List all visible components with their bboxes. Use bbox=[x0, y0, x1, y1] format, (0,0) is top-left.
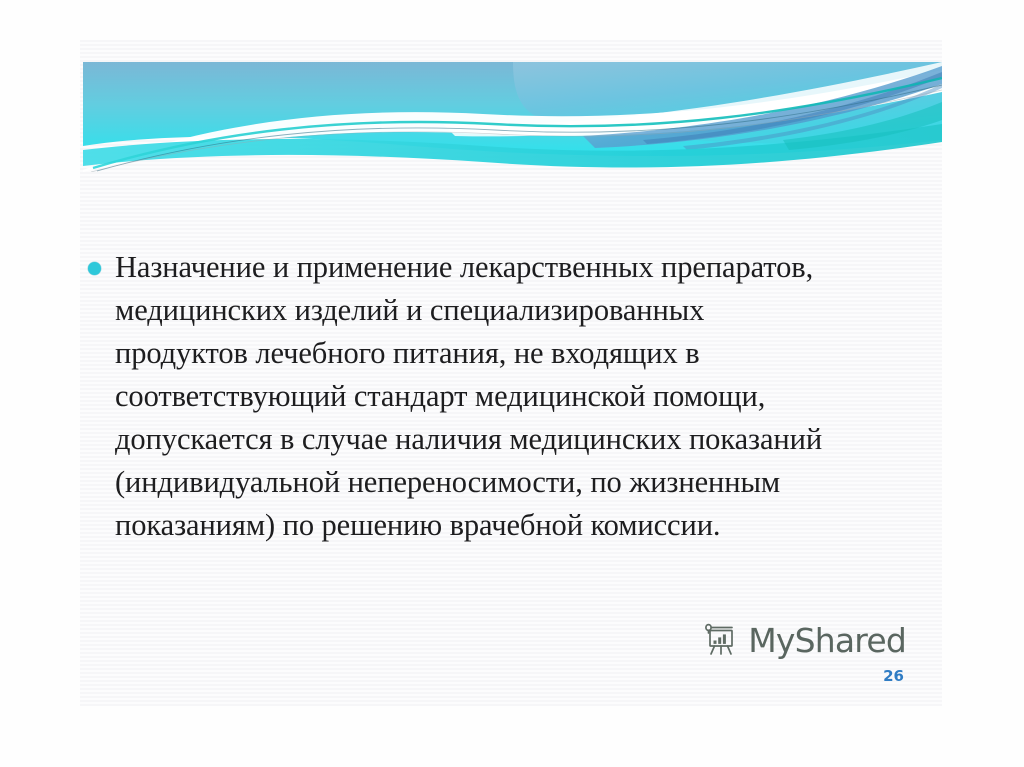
bullet-list-item: Назначение и применение лекарственных пр… bbox=[88, 246, 828, 547]
myshared-watermark: MyShared bbox=[701, 622, 906, 658]
page-number: 26 bbox=[883, 669, 904, 684]
bullet-paragraph-text: Назначение и применение лекарственных пр… bbox=[115, 246, 828, 547]
slide-content: Назначение и применение лекарственных пр… bbox=[80, 40, 942, 706]
slide-page: Назначение и применение лекарственных пр… bbox=[0, 0, 1024, 767]
presentation-slide: Назначение и применение лекарственных пр… bbox=[80, 40, 942, 706]
bullet-dot-icon bbox=[88, 262, 101, 275]
flipchart-barchart-icon bbox=[701, 622, 739, 658]
myshared-label: MyShared bbox=[748, 624, 906, 657]
